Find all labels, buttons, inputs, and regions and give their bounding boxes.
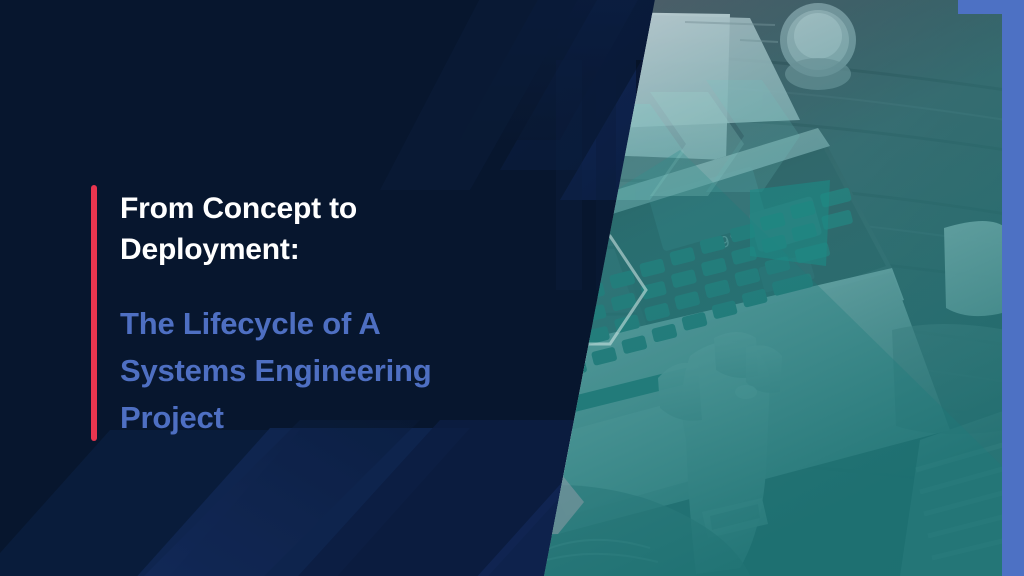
- red-accent-bar: [91, 185, 97, 441]
- right-edge-strip: [1002, 0, 1024, 576]
- page-title: The Lifecycle of A Systems Engineering P…: [120, 300, 431, 441]
- kicker-heading: From Concept to Deployment:: [120, 188, 431, 270]
- headline-text-column: From Concept to Deployment: The Lifecycl…: [120, 185, 431, 441]
- headline-block: From Concept to Deployment: The Lifecycl…: [91, 185, 431, 441]
- top-right-strip: [958, 0, 1024, 14]
- marketing-banner: 9°: [0, 0, 1024, 576]
